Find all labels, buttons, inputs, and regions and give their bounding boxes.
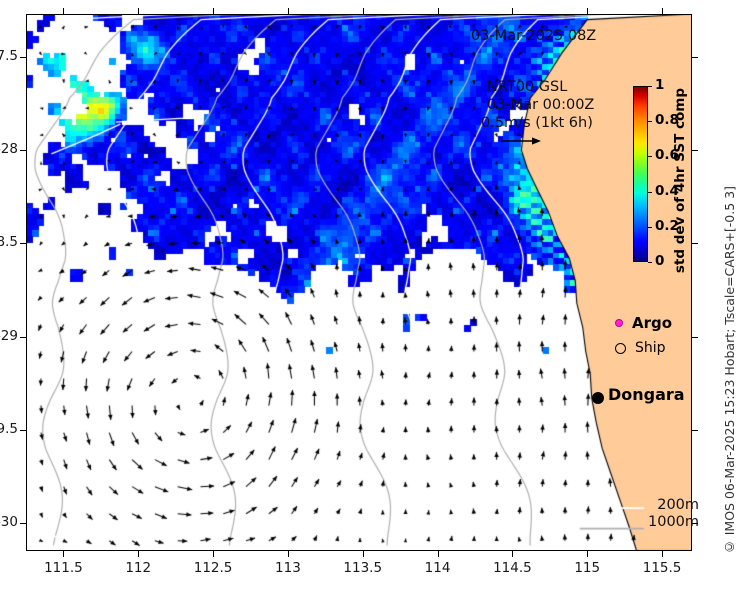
x-axis-tick (138, 551, 139, 557)
y-axis-tick (20, 57, 26, 58)
y-axis-tick-right (692, 337, 698, 338)
x-axis-tick-top (213, 8, 214, 14)
dongara-place-label: Dongara (608, 385, 685, 404)
legend-item-argo: Argo (615, 314, 672, 332)
legend-label-ship: Ship (635, 340, 666, 356)
y-axis-label: -28.5 (0, 234, 18, 250)
model-name-annotation: NRT00 GSL (487, 79, 567, 95)
legend-item-ship: Ship (615, 340, 666, 356)
colorbar-tick (648, 121, 652, 122)
x-axis-label: 115 (557, 560, 617, 576)
colorbar-tick-label: 1 (655, 77, 664, 93)
colorbar-tick-label: 0 (655, 253, 664, 269)
y-axis-tick-right (692, 430, 698, 431)
y-axis-tick-right (692, 150, 698, 151)
vector-scale-arrow-icon (500, 135, 542, 147)
y-axis-tick-right (692, 243, 698, 244)
y-axis-label: -30 (0, 514, 18, 530)
x-axis-label: 115.5 (632, 560, 692, 576)
x-axis-label: 114 (408, 560, 468, 576)
x-axis-tick (213, 551, 214, 557)
y-axis-tick (20, 150, 26, 151)
timestamp-annotation: 03-Mar-2025 08Z (471, 28, 596, 44)
figure-root: 03-Mar-2025 08Z NRT00 GSL 03-Mar 00:00Z … (0, 0, 740, 592)
x-axis-tick (662, 551, 663, 557)
y-axis-label: -28 (0, 141, 18, 157)
x-axis-tick-top (438, 8, 439, 14)
x-axis-label: 112.5 (183, 560, 243, 576)
x-axis-label: 112 (108, 560, 168, 576)
x-axis-tick (63, 551, 64, 557)
y-axis-tick (20, 430, 26, 431)
x-axis-label: 113 (258, 560, 318, 576)
y-axis-tick (20, 523, 26, 524)
x-axis-label: 113.5 (333, 560, 393, 576)
vector-scale-annotation: 0.5m/s (1kt 6h) (481, 115, 593, 131)
x-axis-tick (587, 551, 588, 557)
legend-label-argo: Argo (632, 314, 672, 332)
y-axis-tick (20, 337, 26, 338)
x-axis-tick-top (363, 8, 364, 14)
x-axis-label: 111.5 (33, 560, 93, 576)
y-axis-label: -29.5 (0, 421, 18, 437)
y-axis-tick-right (692, 523, 698, 524)
x-axis-label: 114.5 (482, 560, 542, 576)
dongara-marker-icon (592, 392, 604, 404)
colorbar-gradient (633, 86, 648, 262)
x-axis-tick (512, 551, 513, 557)
colorbar-tick (648, 192, 652, 193)
x-axis-tick (438, 551, 439, 557)
colorbar-tick (648, 156, 652, 157)
colorbar-tick (648, 262, 652, 263)
depth-label-200m: 200m (648, 497, 699, 514)
argo-marker-icon (615, 319, 623, 327)
x-axis-tick-top (138, 8, 139, 14)
x-axis-tick-top (587, 8, 588, 14)
colorbar-tick (648, 86, 652, 87)
x-axis-tick-top (662, 8, 663, 14)
bathymetry-depth-key: 200m 1000m (648, 497, 699, 531)
colorbar-tick (648, 227, 652, 228)
x-axis-tick-top (512, 8, 513, 14)
x-axis-tick-top (288, 8, 289, 14)
x-axis-tick (288, 551, 289, 557)
y-axis-label: -29 (0, 328, 18, 344)
colorbar-title: std dev of 4hr SST comp (672, 88, 688, 273)
y-axis-tick (20, 243, 26, 244)
copyright-credit: © IMOS 06-Mar-2025 15:23 Hobart; Tscale=… (722, 186, 737, 554)
map-plot-area[interactable] (26, 14, 692, 551)
model-time-annotation: 03-Mar 00:00Z (487, 97, 594, 113)
ship-marker-icon (615, 343, 626, 354)
x-axis-tick (363, 551, 364, 557)
current-vector-field (26, 14, 692, 551)
x-axis-tick-top (63, 8, 64, 14)
y-axis-label: -27.5 (0, 48, 18, 64)
y-axis-tick-right (692, 57, 698, 58)
